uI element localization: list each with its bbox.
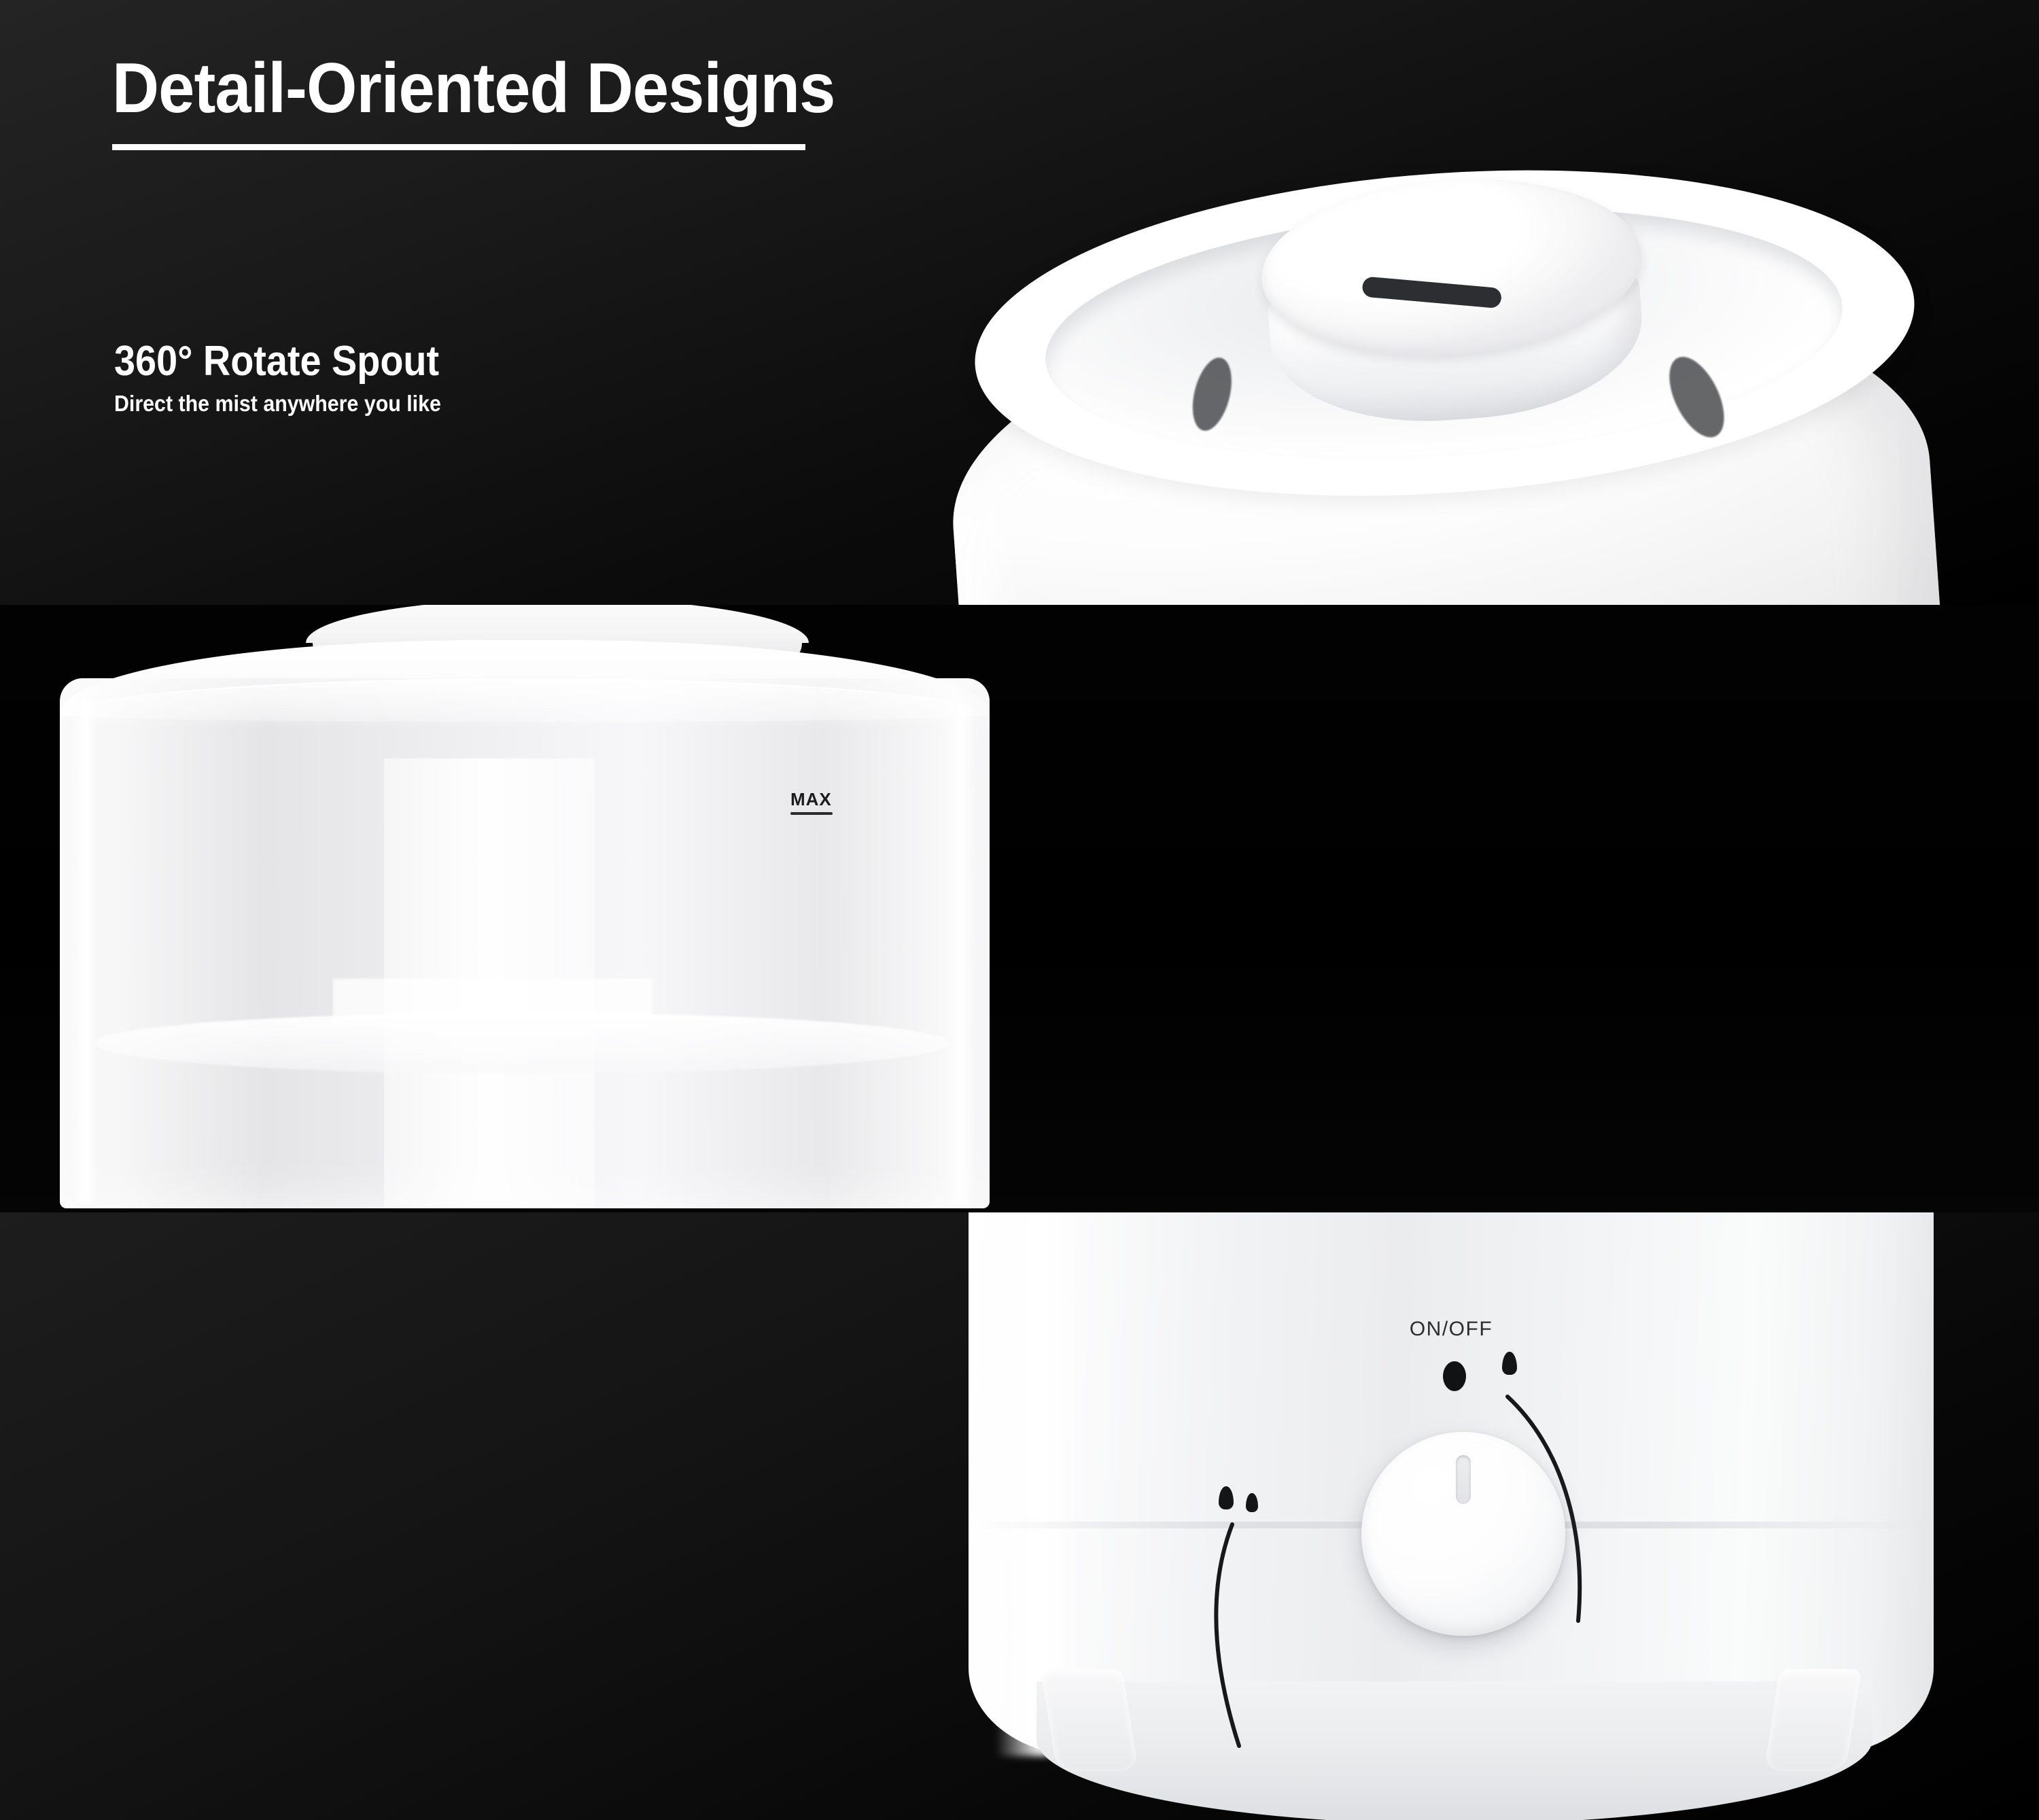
tank-gloss-left [72,700,99,1203]
product-image-humidifier-base: ON/OFF [969,1212,1934,1820]
water-droplet-icon-low [1502,1352,1517,1375]
tank-mouth-ellipse [69,678,980,752]
control-panel: ON/OFF [1261,1318,1641,1671]
product-image-water-tank [41,605,1006,1212]
base-foot-left [1041,1669,1138,1771]
feature-panel-rotate-spout: Detail-Oriented Designs 360° Rotate Spou… [0,0,2039,605]
product-image-humidifier-top [955,173,1974,605]
rotating-mist-spout[interactable] [1255,167,1653,451]
marketing-banner: Detail-Oriented Designs 360° Rotate Spou… [0,0,2039,1820]
tank-gloss-right [945,700,976,1203]
tank-internal-shelf [94,1013,950,1074]
feature-panel-dial-knob: ON/OFF Easy Dial Knob [0,1212,2039,1820]
base-foot-right [1764,1669,1862,1771]
mist-output-knob[interactable] [1361,1432,1565,1636]
knob-position-indicator [1456,1455,1471,1504]
power-indicator-dot-icon [1443,1361,1466,1391]
feature-panel-water-tank: Translucent water tank Easily see the wa… [0,605,2039,1212]
power-label: ON/OFF [1261,1318,1641,1341]
base-tapered-bottom [1036,1681,1872,1820]
title-underline-rule [112,144,805,150]
feature-text-rotate-spout: 360° Rotate Spout Direct the mist anywhe… [114,340,475,416]
dial-arc-left-icon [1200,1522,1295,1760]
basin-vent-slot-left [1186,353,1238,434]
max-water-level-marking: MAX [790,790,833,815]
page-title: Detail-Oriented Designs [112,53,835,124]
max-label: MAX [790,790,833,808]
feature-title-rotate-spout: 360° Rotate Spout [114,340,439,383]
max-level-rule [790,812,833,815]
page-title-block: Detail-Oriented Designs [112,53,898,150]
feature-subtitle-rotate-spout: Direct the mist anywhere you like [114,392,447,416]
